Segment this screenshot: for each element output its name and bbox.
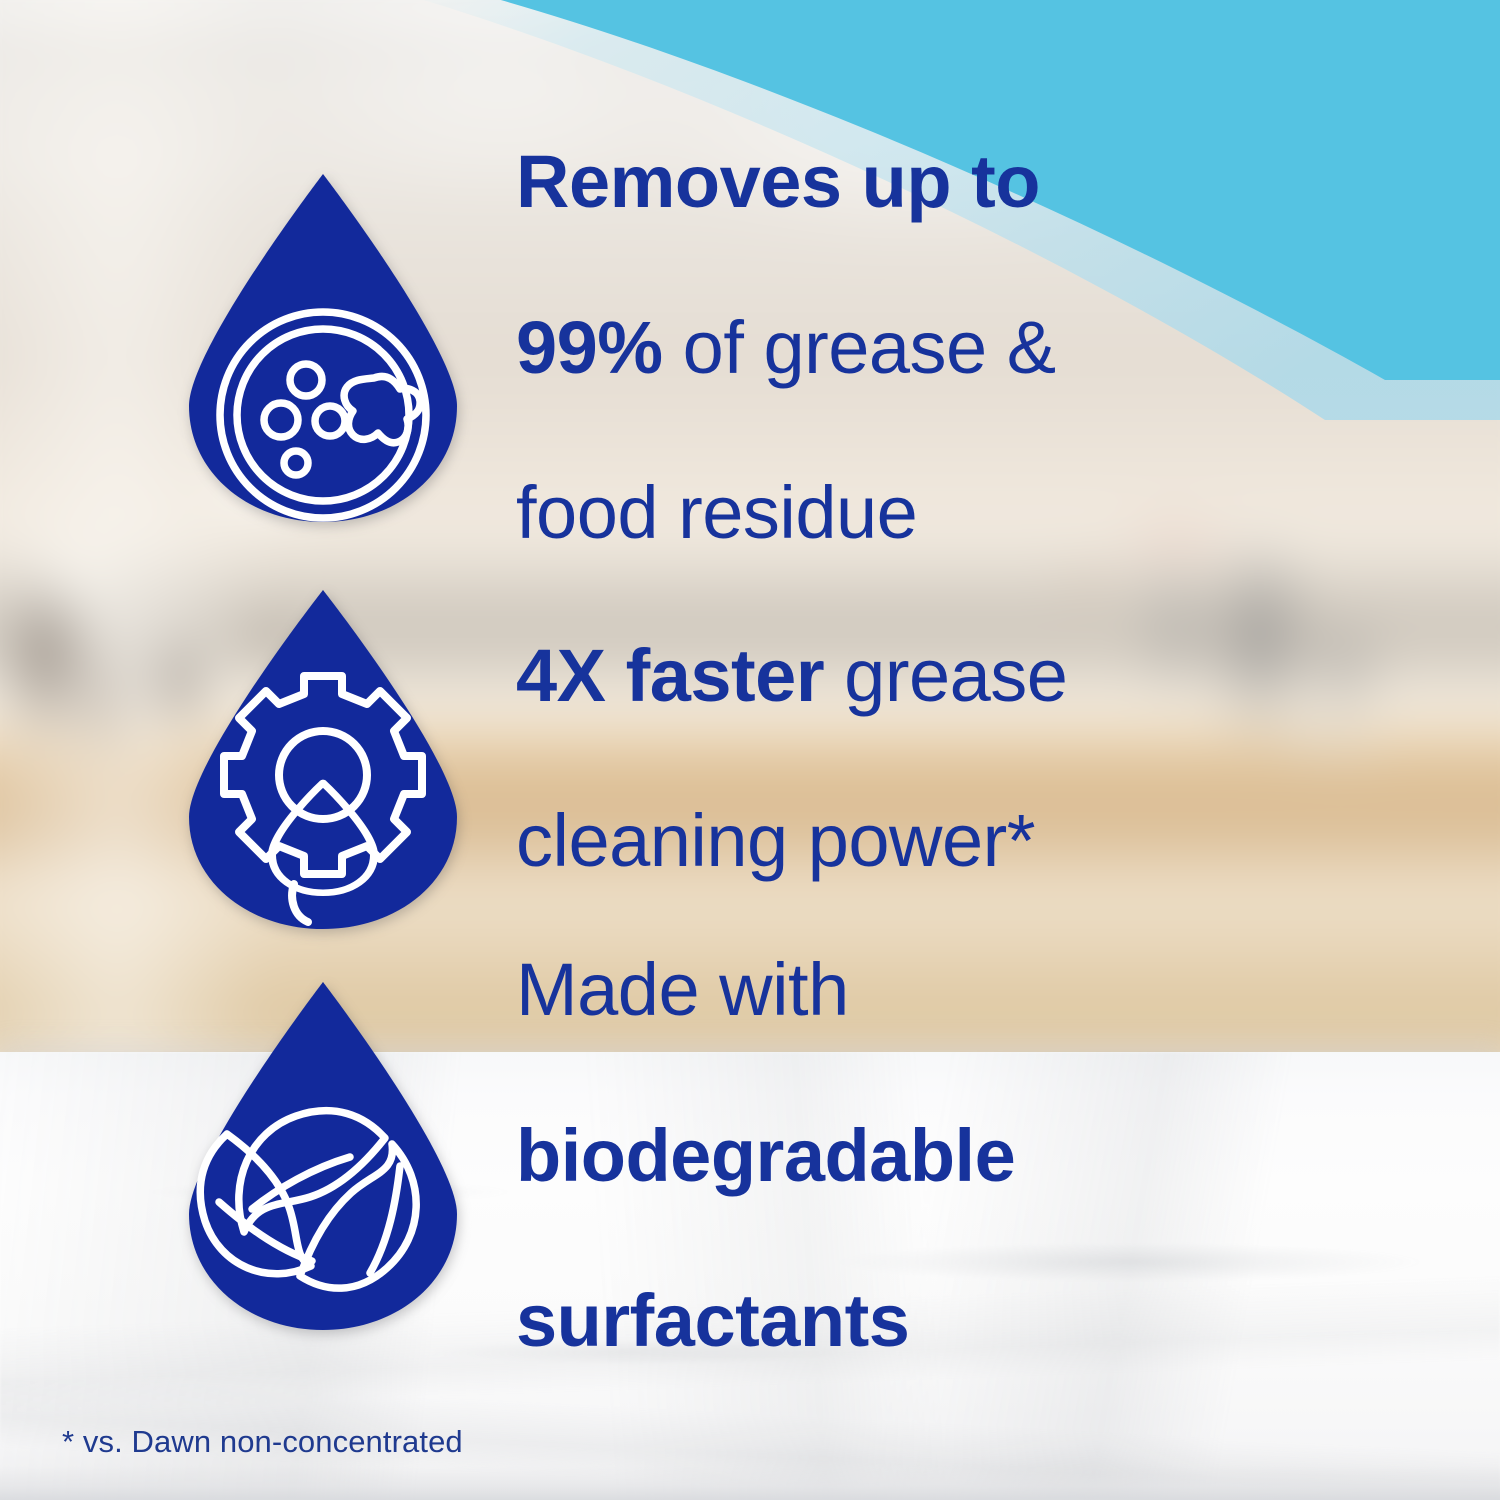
feature-3-line-2: biodegradable: [516, 1114, 1015, 1197]
feature-item-grease-removal: Removes up to 99% of grease & food resid…: [178, 168, 1358, 528]
feature-item-biodegradable: Made with biodegradable surfactants: [178, 976, 1358, 1336]
recycling-leaves-droplet-icon: [178, 976, 468, 1336]
feature-3-text: Made with biodegradable surfactants: [516, 866, 1015, 1446]
footnote-disclaimer: * vs. Dawn non-concentrated: [62, 1424, 463, 1460]
product-feature-banner: Removes up to 99% of grease & food resid…: [0, 0, 1500, 1500]
feature-list: Removes up to 99% of grease & food resid…: [0, 0, 1500, 1500]
feature-1-line-2-rest: of grease &: [663, 306, 1056, 389]
feature-1-line-1: Removes up to: [516, 140, 1040, 223]
feature-1-line-3: food residue: [516, 471, 917, 554]
plate-with-bubbles-droplet-icon: [178, 168, 468, 528]
feature-2-line-1-emphasis: 4X faster: [516, 634, 824, 717]
feature-2-line-1-rest: grease: [824, 634, 1067, 717]
feature-3-line-3: surfactants: [516, 1279, 909, 1362]
feature-1-line-2-emphasis: 99%: [516, 306, 663, 389]
feature-3-line-1: Made with: [516, 948, 849, 1031]
gear-with-droplet-icon: [178, 584, 468, 934]
